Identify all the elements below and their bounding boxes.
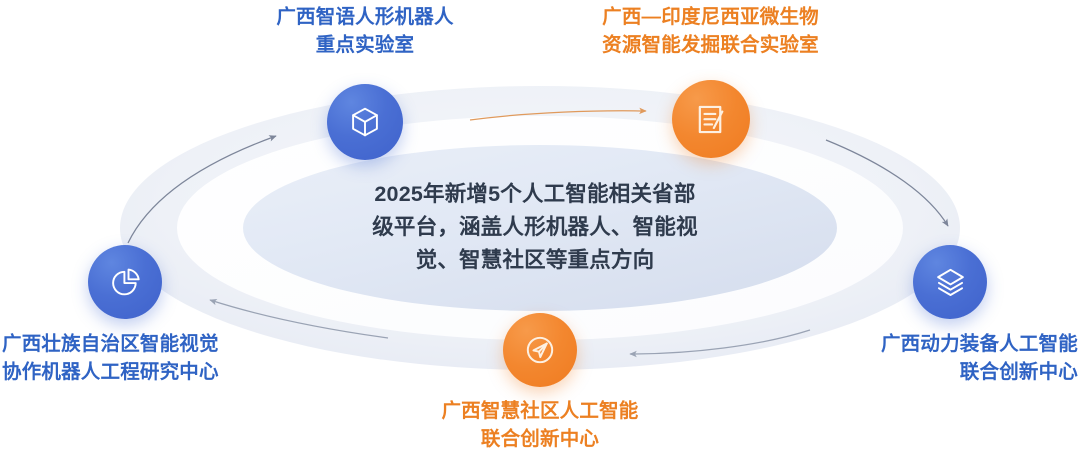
pie-chart-icon (109, 266, 142, 299)
node-top-right[interactable] (672, 80, 750, 158)
node-label-top-left: 广西智语人形机器人 重点实验室 (225, 3, 505, 59)
node-bottom[interactable] (503, 313, 577, 387)
node-top-left[interactable] (327, 84, 403, 160)
node-label-right: 广西动力装备人工智能 联合创新中心 (828, 330, 1078, 386)
center-statement: 2025年新增5个人工智能相关省部级平台，涵盖人形机器人、智能视觉、智慧社区等重… (370, 178, 700, 277)
infographic-canvas: 2025年新增5个人工智能相关省部级平台，涵盖人形机器人、智能视觉、智慧社区等重… (0, 0, 1080, 456)
cube-icon (348, 105, 382, 139)
document-edit-icon (694, 102, 729, 137)
node-label-left: 广西壮族自治区智能视觉 协作机器人工程研究中心 (2, 330, 267, 386)
node-left[interactable] (88, 245, 162, 319)
node-label-bottom: 广西智慧社区人工智能 联合创新中心 (395, 397, 685, 453)
layers-icon (934, 266, 967, 299)
node-right[interactable] (913, 245, 987, 319)
send-plane-icon (523, 333, 557, 367)
node-label-top-right: 广西—印度尼西亚微生物 资源智能发掘联合实验室 (563, 3, 858, 59)
